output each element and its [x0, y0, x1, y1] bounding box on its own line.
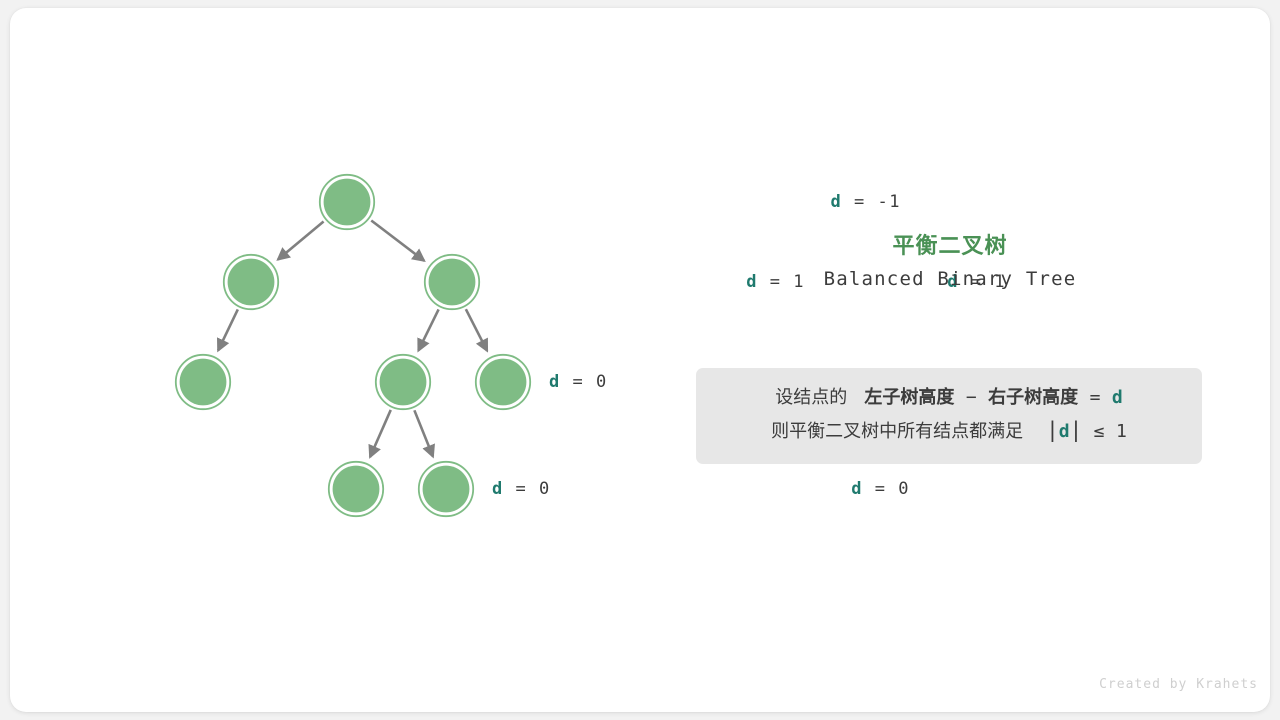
label-equals: = — [504, 479, 539, 499]
node-body — [423, 466, 470, 513]
node-body — [480, 359, 527, 406]
tree-node-root[interactable] — [320, 175, 374, 229]
formula-equals-sign: = — [1090, 387, 1101, 408]
abs-bar-open: | — [1046, 418, 1059, 442]
node-body — [228, 259, 275, 306]
node-body — [333, 466, 380, 513]
formula-minus-sign: − — [966, 387, 977, 408]
formula-line-1: 设结点的 左子树高度 − 右子树高度 = d — [696, 382, 1202, 414]
tree-node-n-rr[interactable] — [476, 355, 530, 409]
tree-edge — [418, 309, 438, 350]
tree-node-n-ll[interactable] — [176, 355, 230, 409]
formula-variable-d-2: d — [1059, 421, 1070, 442]
abs-bar-close: | — [1070, 418, 1083, 442]
page-subtitle: Balanced Binary Tree — [690, 268, 1210, 290]
formula-prefix-2: 则平衡二叉树中所有结点都满足 — [771, 421, 1023, 442]
label-variable: d — [492, 479, 504, 499]
node-body — [324, 179, 371, 226]
formula-right-subtree-height: 右子树高度 — [988, 387, 1078, 408]
tree-edge — [218, 309, 238, 350]
tree-edge — [278, 222, 324, 260]
tree-edge — [370, 410, 391, 457]
formula-line-2: 则平衡二叉树中所有结点都满足 |d| ≤ 1 — [696, 414, 1202, 448]
label-equals: = — [561, 372, 596, 392]
tree-node-n-rlr[interactable] — [419, 462, 473, 516]
tree-edge — [371, 220, 424, 260]
formula-variable-d-1: d — [1112, 387, 1123, 408]
info-panel: 平衡二叉树 Balanced Binary Tree 设结点的 左子树高度 − … — [690, 0, 1210, 720]
formula-prefix-1: 设结点的 — [775, 387, 847, 408]
node-body — [380, 359, 427, 406]
tree-edge — [466, 309, 487, 351]
formula-box: 设结点的 左子树高度 − 右子树高度 = d 则平衡二叉树中所有结点都满足 |d… — [696, 368, 1202, 464]
credit-text: Created by Krahets — [1099, 677, 1258, 692]
tree-node-n-rl[interactable] — [376, 355, 430, 409]
node-body — [180, 359, 227, 406]
label-value: 0 — [539, 479, 551, 499]
tree-node-n-l[interactable] — [224, 255, 278, 309]
tree-node-n-rll[interactable] — [329, 462, 383, 516]
tree-node-n-r[interactable] — [425, 255, 479, 309]
formula-relation-sign: ≤ — [1094, 421, 1105, 442]
node-balance-label-n-rr: d = 0 — [549, 372, 608, 392]
node-balance-label-n-rlr: d = 0 — [492, 479, 551, 499]
label-value: 0 — [596, 372, 608, 392]
binary-tree-diagram — [0, 0, 680, 720]
canvas-background: d = -1d = 1d = 1d = 0d = 0d = 0d = 0d = … — [0, 0, 1280, 720]
formula-bound-value: 1 — [1116, 421, 1127, 442]
formula-left-subtree-height: 左子树高度 — [864, 387, 954, 408]
page-title: 平衡二叉树 — [690, 228, 1210, 260]
tree-edge — [414, 410, 433, 456]
tree-nodes — [176, 175, 530, 516]
node-body — [429, 259, 476, 306]
label-variable: d — [549, 372, 561, 392]
